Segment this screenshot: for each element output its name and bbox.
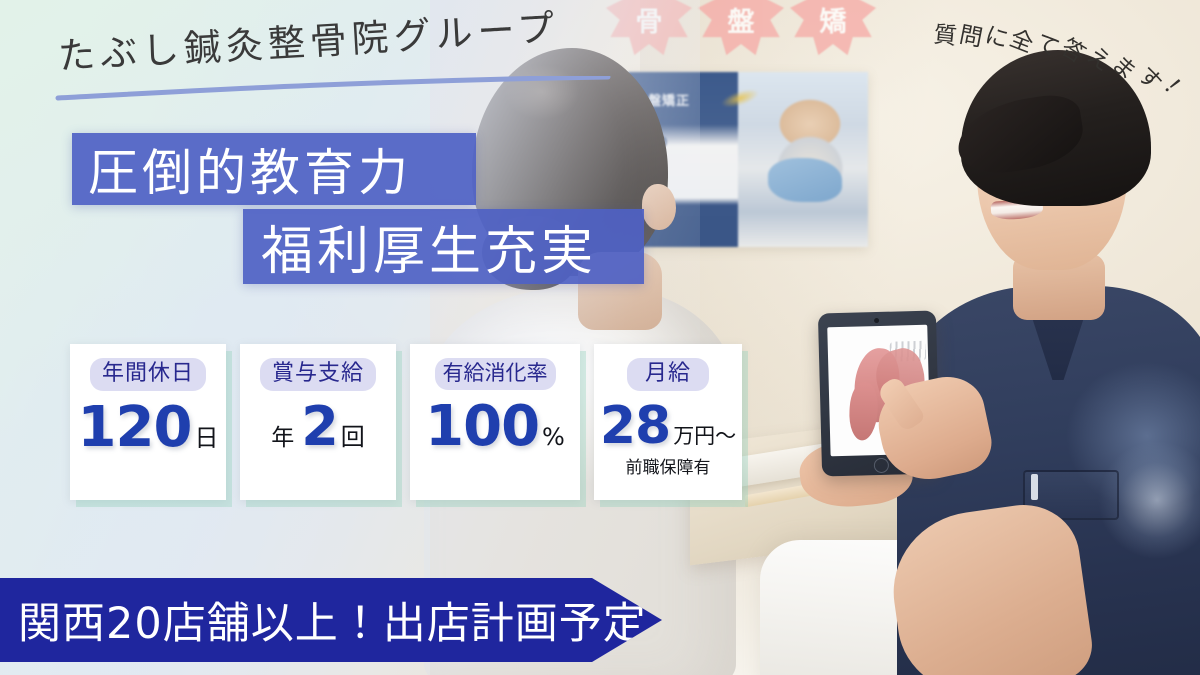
practitioner-figure: [905, 40, 1200, 675]
stat-card-value-row: 年 2 回: [240, 400, 396, 454]
anatomy-muscle-biceps: [848, 382, 879, 442]
stat-card-paid-leave-rate: 有給消化率 100 %: [410, 344, 580, 500]
stat-card-monthly-salary: 月給 28 万円～ 前職保障有: [594, 344, 742, 500]
headline-band-2: 福利厚生充実: [243, 209, 644, 284]
brand-underline-swoosh: [52, 76, 612, 102]
starburst-char-3: 矯: [790, 0, 876, 56]
stat-card-number: 100: [425, 399, 539, 455]
stat-card-unit: %: [542, 423, 565, 451]
stat-card-subnote: 前職保障有: [626, 453, 711, 478]
stat-card-label: 有給消化率: [435, 358, 556, 390]
brand-lockup: たぶし鍼灸整骨院グループ: [52, 26, 622, 86]
recruitment-poster: 骨盤矯正 ¥500 骨 盤 矯: [0, 0, 1200, 675]
stat-card-unit: 回: [341, 417, 365, 452]
stat-card-unit: 万円～: [673, 420, 736, 450]
stat-card-label: 賞与支給: [260, 358, 376, 391]
stat-card-number: 120: [78, 400, 192, 456]
stat-card-value-row: 28 万円～: [594, 400, 742, 452]
tablet-camera: [874, 318, 879, 323]
headline-band-1: 圧倒的教育力: [72, 133, 476, 205]
practitioner-pocket-pen: [1031, 474, 1038, 500]
stat-card-value-row: 100 %: [410, 399, 580, 455]
wall-poster-limb: [768, 158, 842, 202]
stat-card-prefix: 年: [271, 418, 294, 452]
stat-card-unit: 日: [194, 418, 218, 453]
tablet-home-button: [874, 458, 889, 473]
stat-card-group: 年間休日 120 日 賞与支給 年 2 回 有給消化率 100 % 月給: [70, 344, 742, 509]
stat-card-bonus: 賞与支給 年 2 回: [240, 344, 396, 500]
stat-card-annual-holidays: 年間休日 120 日: [70, 344, 226, 500]
bottom-banner-text: 関西20店舗以上！出店計画予定: [0, 589, 647, 651]
stat-card-value-row: 120 日: [70, 400, 226, 456]
handwritten-note: 質問に全て答えます！: [930, 8, 1200, 88]
stat-card-number: 28: [600, 400, 670, 452]
handwritten-note-char: 質: [932, 15, 958, 51]
stat-card-label: 年間休日: [90, 358, 206, 391]
stat-card-number: 2: [301, 400, 338, 454]
bottom-arrow-banner: 関西20店舗以上！出店計画予定: [0, 578, 662, 662]
stat-card-label: 月給: [627, 358, 709, 391]
